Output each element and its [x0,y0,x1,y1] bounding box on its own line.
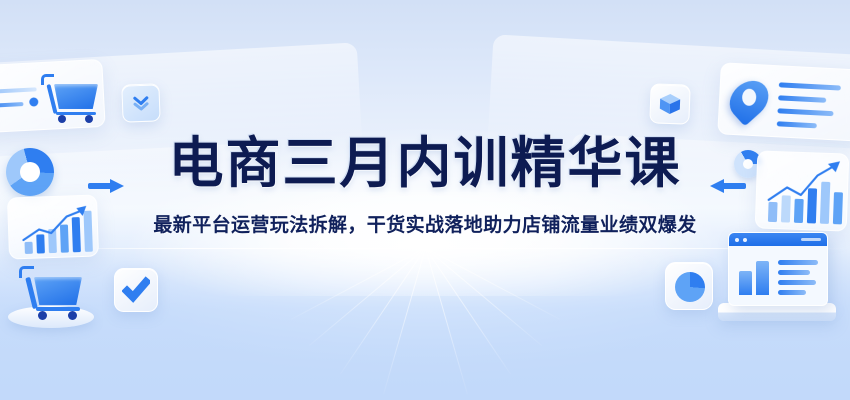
window-controls [801,238,821,241]
slider-knob [29,97,38,106]
window-line-1 [778,260,818,265]
text-line-1 [779,82,841,90]
slider-track-2 [0,102,23,108]
location-card [717,62,850,141]
cart-wheel-right [85,115,93,123]
floor-line [340,248,426,374]
window-dot-1 [735,238,739,242]
window-line-3 [778,280,816,285]
cart-basket [54,84,98,109]
check-icon [122,276,150,304]
shopping-cart-podium [18,264,86,320]
floor-line [291,248,426,320]
banner-subtitle: 最新平台运营玩法拆解，干货实战落地助力店铺流量业绩双爆发 [0,210,850,237]
cart-handle [19,266,34,278]
window-bar-2 [756,261,769,295]
pie-chart-icon [675,272,705,302]
chevron-double-down-icon [130,92,153,115]
floor-line [383,248,426,394]
floor-line [425,248,468,394]
cart-wheel-left [58,115,66,123]
window-dot-2 [743,238,747,242]
cart-basket [34,277,82,305]
dashboard-window [728,232,828,306]
cube-box [649,83,690,124]
slider-track-1 [0,87,37,93]
window-line-2 [778,270,810,275]
cart-wheel-right [68,311,77,320]
floor-line [425,248,542,346]
location-pin-icon [731,78,767,122]
floor-line [425,248,511,374]
floor-line [425,248,560,320]
window-bar-1 [739,271,752,295]
banner-title: 电商三月内训精华课 [0,135,850,193]
window-line-4 [778,290,806,295]
cart-wheel-left [38,311,47,320]
text-line-3 [777,108,833,116]
chevron-down-box [121,83,160,122]
cart-handle [41,74,54,85]
shopping-cart-icon [40,72,102,124]
cube-3d-icon [657,91,684,118]
check-box [114,268,158,312]
course-banner: 电商三月内训精华课 最新平台运营玩法拆解，干货实战落地助力店铺流量业绩双爆发 [0,0,850,400]
text-line-4 [777,121,817,128]
text-line-2 [778,95,826,103]
banner-text-block: 电商三月内训精华课 最新平台运营玩法拆解，干货实战落地助力店铺流量业绩双爆发 [0,135,850,237]
pie-box [665,262,713,310]
